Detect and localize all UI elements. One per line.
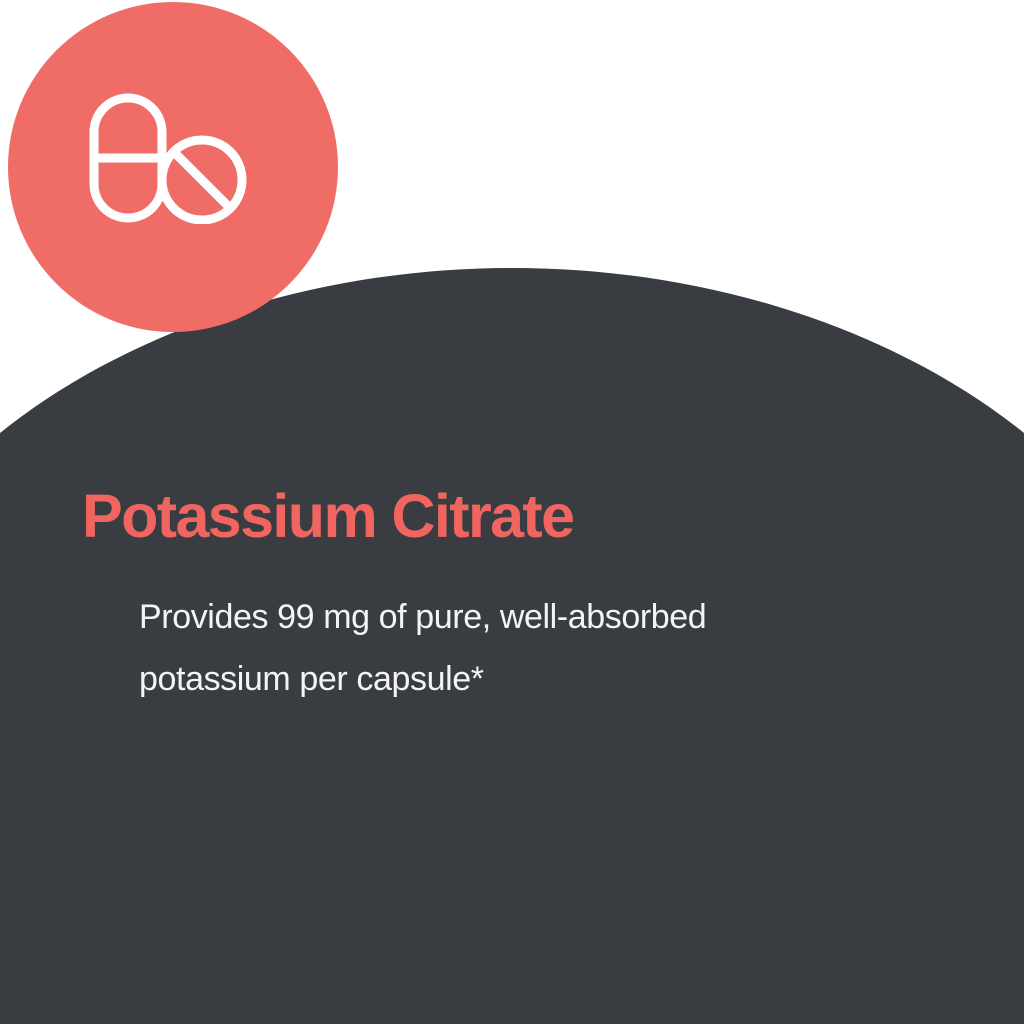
product-description: Provides 99 mg of pure, well-absorbed po… — [139, 586, 839, 710]
card-text-content: Potassium Citrate Provides 99 mg of pure… — [0, 0, 1024, 1024]
page-title: Potassium Citrate — [82, 483, 573, 550]
product-feature-card: Potassium Citrate Provides 99 mg of pure… — [0, 0, 1024, 1024]
